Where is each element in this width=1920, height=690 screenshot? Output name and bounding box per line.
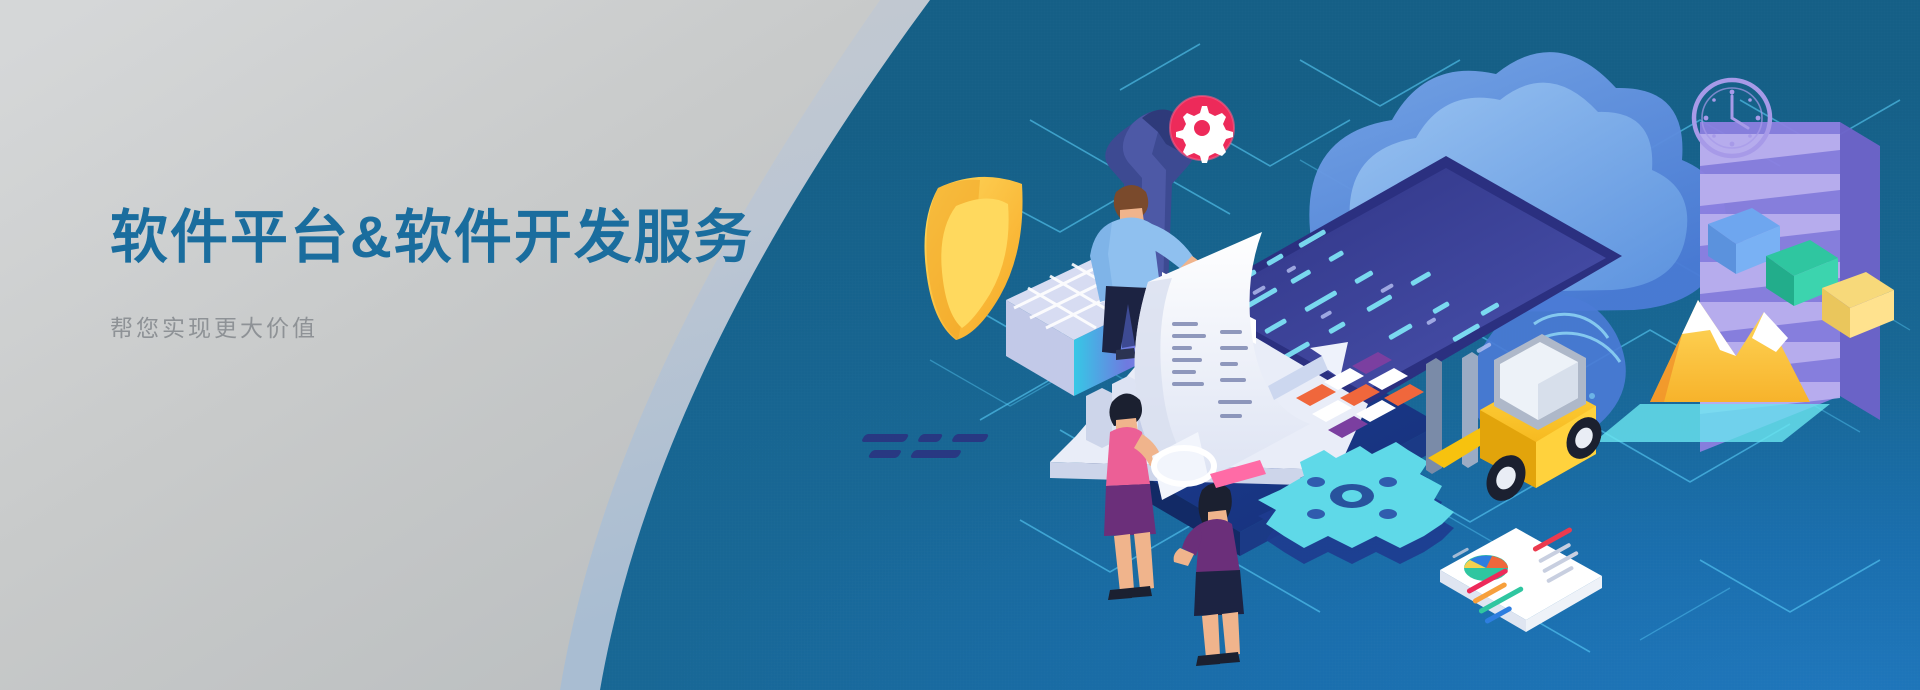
banner-root: 软件平台&软件开发服务 帮您实现更大价值 [0, 0, 1920, 690]
page-subtitle: 帮您实现更大价值 [110, 309, 810, 343]
illustration [880, 0, 1920, 690]
report-pie-chart [1464, 555, 1508, 581]
clock-icon [1694, 80, 1770, 156]
page-title: 软件平台&软件开发服务 [110, 206, 810, 271]
forklift-icon [1426, 334, 1608, 508]
report-document [1440, 527, 1602, 632]
banner-copy: 软件平台&软件开发服务 帮您实现更大价值 [110, 206, 810, 343]
server-rack-panel [1700, 122, 1894, 452]
